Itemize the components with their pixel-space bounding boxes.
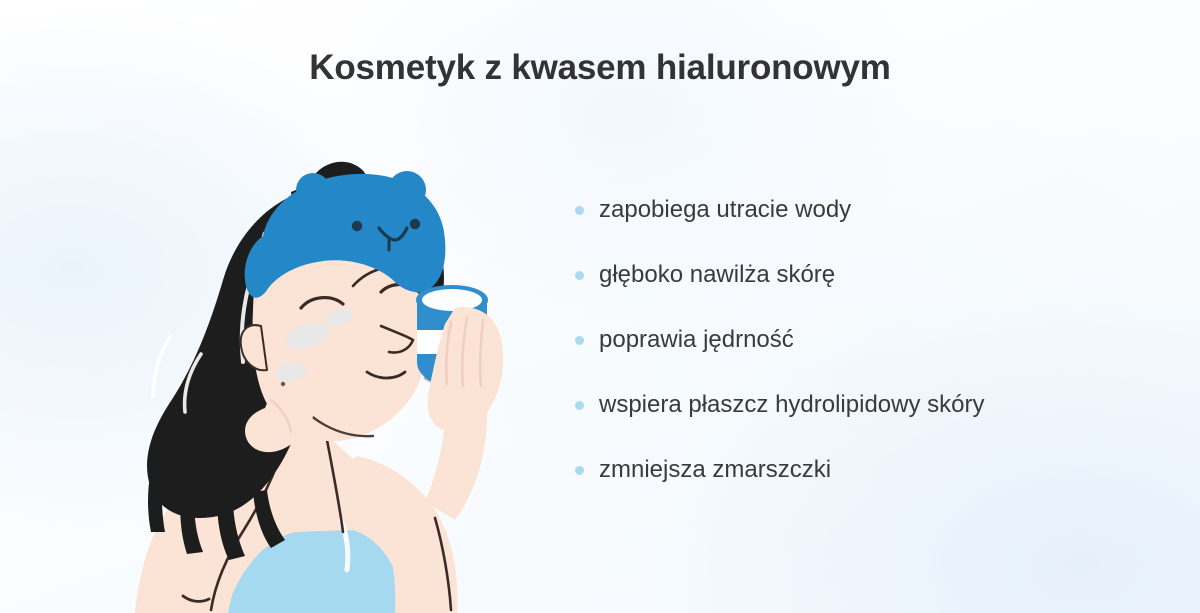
bullet-dot-icon (575, 336, 584, 345)
page-title: Kosmetyk z kwasem hialuronowym (0, 48, 1200, 88)
benefit-label: zapobiega utracie wody (599, 196, 851, 225)
benefit-list: zapobiega utracie wody głęboko nawilża s… (575, 178, 1155, 503)
benefit-item: głęboko nawilża skórę (575, 243, 1155, 308)
bullet-dot-icon (575, 271, 584, 280)
bullet-dot-icon (575, 401, 584, 410)
bullet-dot-icon (575, 206, 584, 215)
benefit-label: głęboko nawilża skórę (599, 261, 835, 290)
infographic-root: Kosmetyk z kwasem hialuronowym (0, 0, 1200, 613)
benefit-label: poprawia jędrność (599, 326, 794, 355)
bullet-dot-icon (575, 466, 584, 475)
benefit-item: wspiera płaszcz hydrolipidowy skóry (575, 373, 1155, 438)
benefit-label: zmniejsza zmarszczki (599, 456, 831, 485)
benefit-item: zmniejsza zmarszczki (575, 438, 1155, 503)
illustration-woman-applying-cream (95, 140, 565, 613)
benefit-label: wspiera płaszcz hydrolipidowy skóry (599, 391, 984, 420)
benefit-item: zapobiega utracie wody (575, 178, 1155, 243)
benefit-item: poprawia jędrność (575, 308, 1155, 373)
